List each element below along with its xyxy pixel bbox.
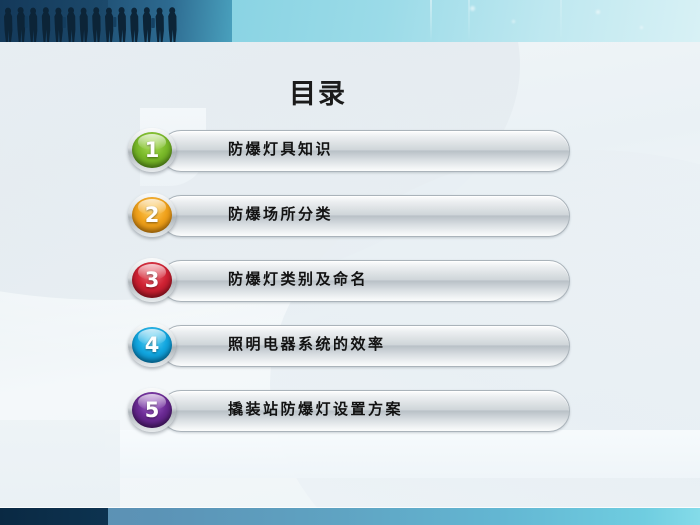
toc-badge-4: 4: [128, 323, 176, 367]
toc-number-2: 2: [145, 205, 160, 226]
toc-label-2: 防爆场所分类: [228, 203, 333, 224]
toc-badge-inner-3: 3: [132, 262, 172, 298]
footer-bar: [0, 508, 700, 525]
toc-label-5: 撬装站防爆灯设置方案: [228, 398, 403, 419]
page-title: 目录: [0, 72, 636, 111]
toc-item-1[interactable]: 1 防爆灯具知识: [128, 128, 568, 174]
toc-pill-1[interactable]: [160, 130, 570, 172]
toc-item-3[interactable]: 3 防爆灯类别及命名: [128, 258, 568, 304]
toc-item-4[interactable]: 4 照明电器系统的效率: [128, 323, 568, 369]
header-banner: [0, 0, 700, 42]
toc-badge-inner-5: 5: [132, 392, 172, 428]
toc-badge-inner-2: 2: [132, 197, 172, 233]
toc-number-1: 1: [145, 140, 160, 161]
toc-number-4: 4: [145, 335, 160, 356]
toc-badge-3: 3: [128, 258, 176, 302]
people-silhouettes-icon: [0, 0, 200, 42]
background-panel-left: [0, 420, 120, 508]
toc-badge-inner-4: 4: [132, 327, 172, 363]
footer-bar-dark-block: [0, 508, 108, 525]
toc-number-3: 3: [145, 270, 160, 291]
toc-badge-5: 5: [128, 388, 176, 432]
toc-badge-1: 1: [128, 128, 176, 172]
people-silhouettes-reflection-icon: [0, 42, 200, 76]
toc-number-5: 5: [145, 400, 160, 421]
toc-label-4: 照明电器系统的效率: [228, 333, 386, 354]
presentation-slide: 目录 1 防爆灯具知识 2 防爆场所分类 3 防爆灯类别及命名: [0, 0, 700, 525]
toc-badge-inner-1: 1: [132, 132, 172, 168]
toc-pill-2[interactable]: [160, 195, 570, 237]
toc-item-5[interactable]: 5 撬装站防爆灯设置方案: [128, 388, 568, 434]
toc-label-3: 防爆灯类别及命名: [228, 268, 368, 289]
toc-label-1: 防爆灯具知识: [228, 138, 333, 159]
toc-badge-2: 2: [128, 193, 176, 237]
background-panel-bottom: [105, 430, 700, 478]
toc-item-2[interactable]: 2 防爆场所分类: [128, 193, 568, 239]
